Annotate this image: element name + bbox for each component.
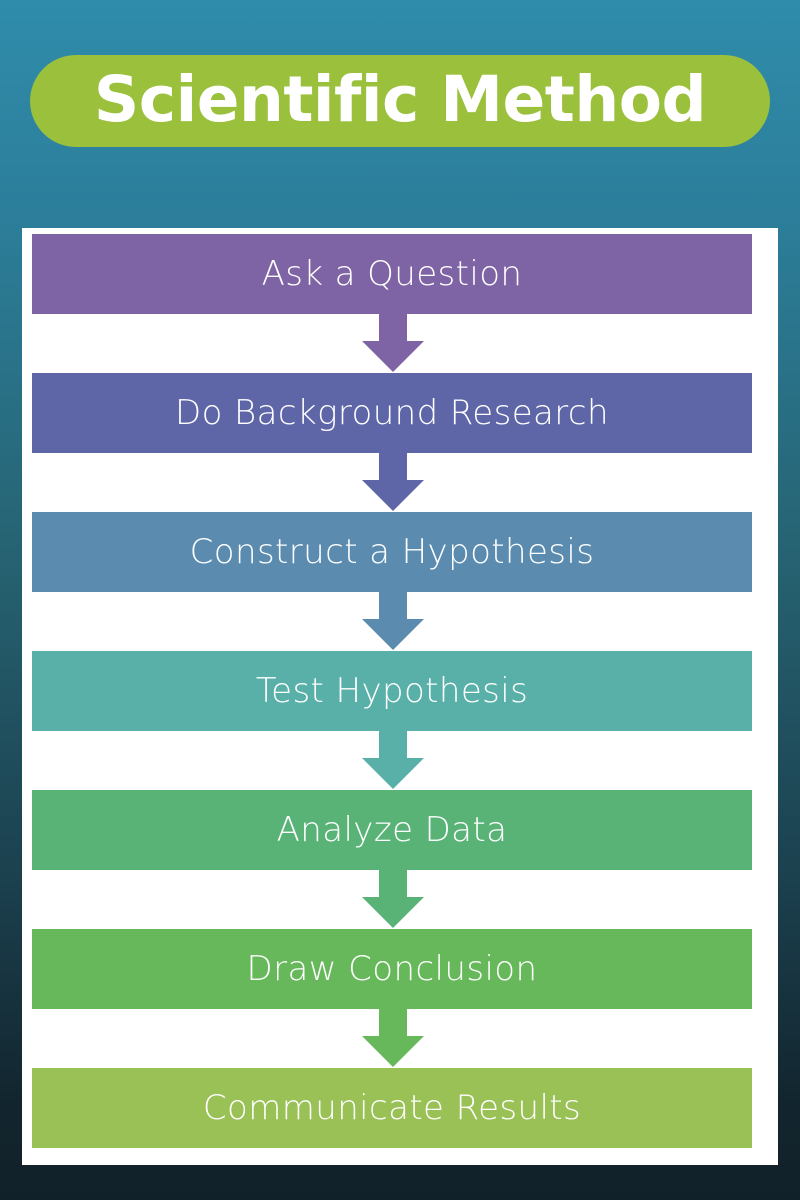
flow-step-label: Construct a Hypothesis <box>190 535 595 569</box>
arrow-head <box>362 619 424 650</box>
arrow-stem <box>379 1009 407 1037</box>
arrow-down-icon <box>362 314 424 372</box>
arrow-down-icon <box>362 1009 424 1067</box>
flow-step-label: Ask a Question <box>262 257 523 291</box>
flow-step-label: Communicate Results <box>203 1091 581 1125</box>
arrow-down-icon <box>362 731 424 789</box>
flow-step-1[interactable]: Ask a Question <box>32 234 752 314</box>
flowchart-panel: Ask a QuestionDo Background ResearchCons… <box>22 228 778 1165</box>
arrow-head <box>362 480 424 511</box>
arrow-down-icon <box>362 870 424 928</box>
page-title: Scientific Method <box>94 68 706 131</box>
scientific-method-poster: Scientific Method Ask a QuestionDo Backg… <box>0 0 800 1200</box>
arrow-head <box>362 1036 424 1067</box>
flow-step-label: Analyze Data <box>277 813 508 847</box>
flow-step-label: Do Background Research <box>175 396 609 430</box>
arrow-stem <box>379 731 407 759</box>
arrow-head <box>362 341 424 372</box>
arrow-stem <box>379 453 407 481</box>
arrow-down-icon <box>362 592 424 650</box>
arrow-stem <box>379 870 407 898</box>
flow-step-3[interactable]: Construct a Hypothesis <box>32 512 752 592</box>
title-banner: Scientific Method <box>30 55 770 147</box>
arrow-head <box>362 758 424 789</box>
arrow-down-icon <box>362 453 424 511</box>
flow-step-label: Test Hypothesis <box>256 674 529 708</box>
flow-step-6[interactable]: Draw Conclusion <box>32 929 752 1009</box>
flow-step-4[interactable]: Test Hypothesis <box>32 651 752 731</box>
arrow-stem <box>379 314 407 342</box>
arrow-stem <box>379 592 407 620</box>
flow-step-7[interactable]: Communicate Results <box>32 1068 752 1148</box>
arrow-head <box>362 897 424 928</box>
flow-step-2[interactable]: Do Background Research <box>32 373 752 453</box>
flow-step-5[interactable]: Analyze Data <box>32 790 752 870</box>
flow-step-label: Draw Conclusion <box>247 952 538 986</box>
